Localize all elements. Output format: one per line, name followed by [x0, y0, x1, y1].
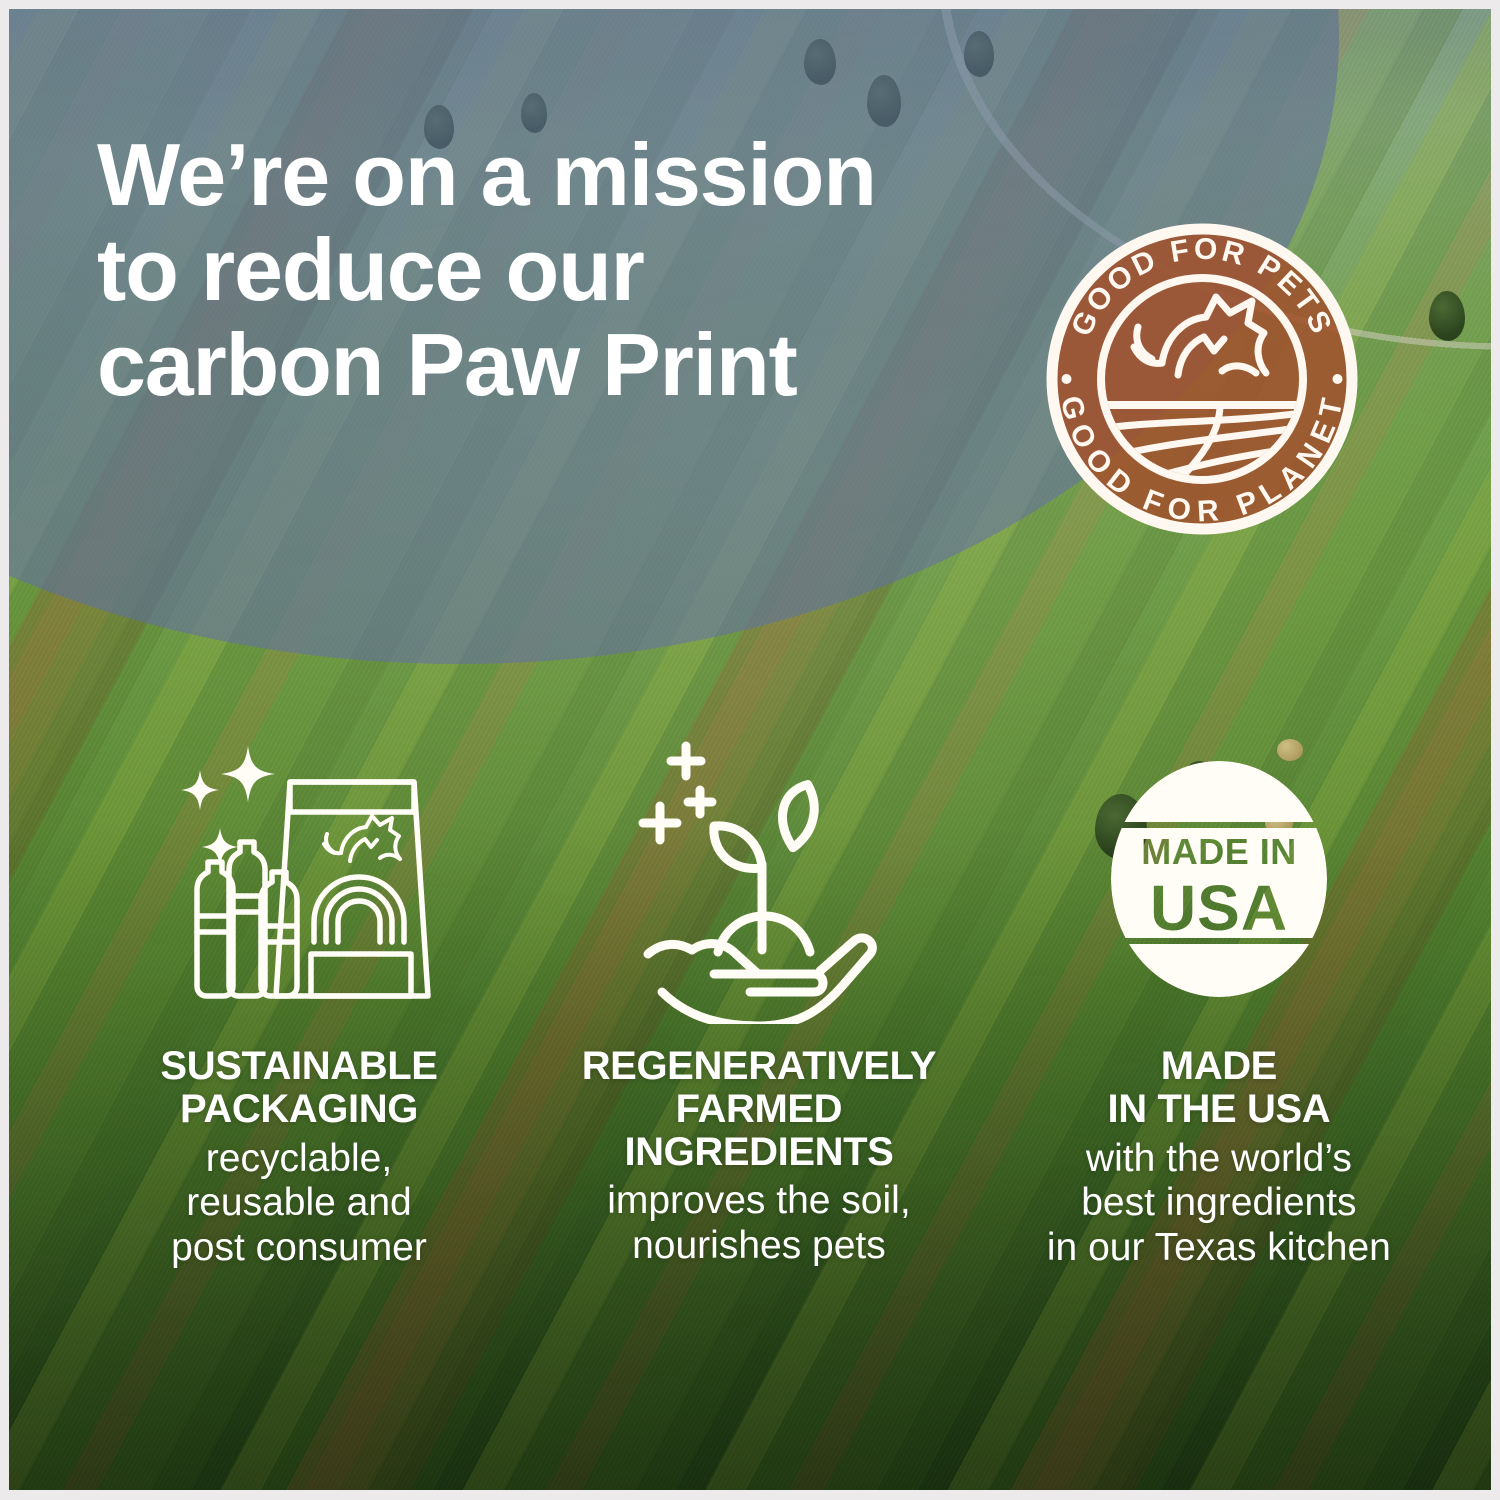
feature-body: recyclable, reusable and post consumer — [69, 1137, 529, 1270]
feature-body-line: reusable and — [69, 1181, 529, 1225]
feature-title: REGENERATIVELY FARMED INGREDIENTS — [529, 1045, 989, 1173]
feature-regeneratively-farmed: REGENERATIVELY FARMED INGREDIENTS improv… — [529, 729, 989, 1268]
headline-line-2: to reduce our — [97, 222, 1057, 317]
feature-title-line: FARMED — [529, 1088, 989, 1131]
feature-title-line: REGENERATIVELY — [529, 1045, 989, 1088]
image-frame: We’re on a mission to reduce our carbon … — [0, 0, 1500, 1500]
feature-body-line: improves the soil, — [529, 1179, 989, 1223]
made-in-usa-badge-icon: MADE IN USA MADE IN USA — [989, 729, 1449, 1029]
feature-sustainable-packaging: SUSTAINABLE PACKAGING recyclable, reusab… — [69, 729, 529, 1270]
seal-separator-dot-left — [1062, 374, 1072, 384]
feature-body: with the world’s best ingredients in our… — [989, 1137, 1449, 1270]
feature-title-line: IN THE USA — [989, 1088, 1449, 1131]
regenerative-farming-icon — [529, 729, 989, 1029]
feature-title: MADE IN THE USA — [989, 1045, 1449, 1131]
feature-title-line: PACKAGING — [69, 1088, 529, 1131]
feature-columns: SUSTAINABLE PACKAGING recyclable, reusab… — [69, 729, 1449, 1270]
promo-canvas: We’re on a mission to reduce our carbon … — [9, 9, 1491, 1490]
feature-body-line: nourishes pets — [529, 1224, 989, 1268]
sparkle-icon — [181, 770, 219, 810]
feature-body-line: post consumer — [69, 1226, 529, 1270]
page-title: We’re on a mission to reduce our carbon … — [97, 127, 1057, 412]
feature-body-line: best ingredients — [989, 1181, 1449, 1225]
feature-title-line: MADE — [989, 1045, 1449, 1088]
feature-title: SUSTAINABLE PACKAGING — [69, 1045, 529, 1131]
canidae-dog-mark-icon — [324, 816, 400, 861]
feature-body: improves the soil, nourishes pets — [529, 1179, 989, 1268]
good-for-pets-good-for-planet-seal: GOOD FOR PETS GOOD FOR PLANET — [1042, 219, 1362, 539]
feature-title-line: INGREDIENTS — [529, 1131, 989, 1174]
feature-title-line: SUSTAINABLE — [69, 1045, 529, 1088]
feature-body-line: recyclable, — [69, 1137, 529, 1181]
headline-line-1: We’re on a mission — [97, 127, 1057, 222]
headline-line-3: carbon Paw Print — [97, 317, 1057, 412]
feature-made-in-usa: MADE IN USA MADE IN USA MADE IN THE USA — [989, 729, 1449, 1270]
plus-sparkle-icon — [643, 746, 712, 840]
sparkle-icon — [221, 746, 275, 802]
feature-body-line: with the world’s — [989, 1137, 1449, 1181]
seal-separator-dot-right — [1333, 374, 1343, 384]
sustainable-packaging-icon — [69, 729, 529, 1029]
feature-body-line: in our Texas kitchen — [989, 1226, 1449, 1270]
usa-badge-shape — [1111, 761, 1327, 997]
